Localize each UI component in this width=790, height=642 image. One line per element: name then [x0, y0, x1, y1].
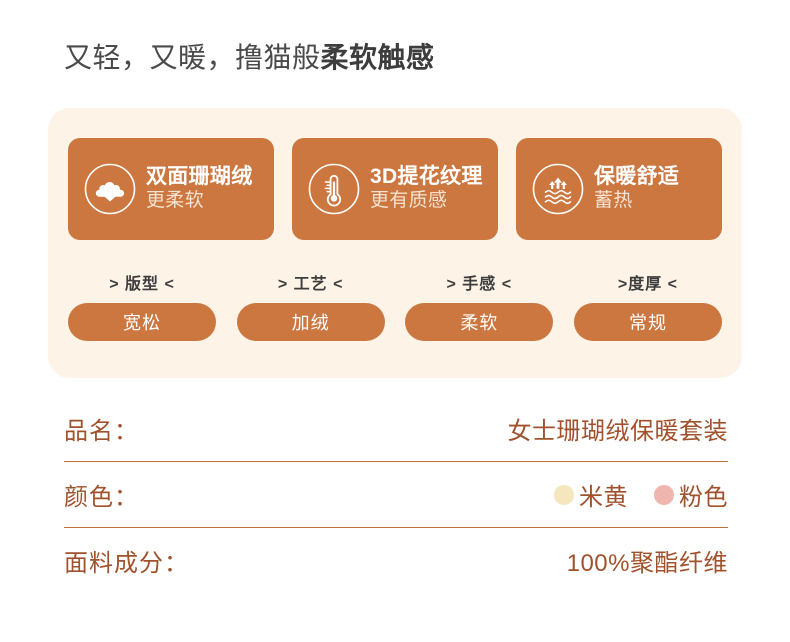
info-value-color: 米黄 粉色 — [554, 477, 728, 512]
spec-group-craft: > 工艺 < 加绒 — [231, 270, 391, 341]
feature-card-coral-fleece[interactable]: 双面珊瑚绒 更柔软 — [68, 138, 274, 240]
spec-group-fit: > 版型 < 宽松 — [62, 270, 222, 341]
info-row-color: 颜色： 米黄 粉色 — [64, 462, 728, 528]
feature-card-title: 保暖舒适 — [594, 165, 679, 189]
info-key: 面料成分： — [64, 543, 189, 578]
page-title-emphasis: 柔软触感 — [321, 42, 435, 73]
spec-tags-row: > 版型 < 宽松 > 工艺 < 加绒 > 手感 < 柔软 >度厚 < 常规 — [62, 270, 728, 341]
page-title-prefix: 又轻，又暖，撸猫般 — [64, 42, 321, 73]
info-key: 品名： — [64, 411, 139, 446]
color-option-beige[interactable]: 米黄 — [554, 477, 628, 512]
product-info-list: 品名： 女士珊瑚绒保暖套装 颜色： 米黄 粉色 面料成分： 100%聚酯纤维 — [64, 396, 728, 593]
info-value-fabric: 100%聚酯纤维 — [567, 543, 728, 578]
info-row-fabric: 面料成分： 100%聚酯纤维 — [64, 528, 728, 593]
feature-card-subtitle: 蓄热 — [594, 190, 679, 211]
spec-label: >度厚 < — [618, 270, 678, 294]
feature-card-subtitle: 更柔软 — [146, 190, 253, 211]
feature-card-text: 双面珊瑚绒 更柔软 — [146, 165, 253, 214]
cotton-boll-icon — [82, 161, 138, 217]
spec-pill-feel[interactable]: 柔软 — [405, 303, 553, 341]
feature-card-title: 双面珊瑚绒 — [146, 165, 253, 189]
feature-cards-row: 双面珊瑚绒 更柔软 — [68, 138, 722, 240]
feature-card-text: 保暖舒适 蓄热 — [594, 165, 679, 214]
spec-pill-craft[interactable]: 加绒 — [237, 303, 385, 341]
spec-group-feel: > 手感 < 柔软 — [399, 270, 559, 341]
spec-pill-fit[interactable]: 宽松 — [68, 303, 216, 341]
info-key: 颜色： — [64, 477, 139, 512]
heat-waves-icon — [530, 161, 586, 217]
spec-pill-thickness[interactable]: 常规 — [574, 303, 722, 341]
page-title: 又轻，又暖，撸猫般柔软触感 — [64, 36, 435, 80]
info-value-product-name: 女士珊瑚绒保暖套装 — [508, 411, 729, 446]
color-swatch-pink — [654, 485, 674, 505]
info-row-product-name: 品名： 女士珊瑚绒保暖套装 — [64, 396, 728, 462]
spec-label: > 手感 < — [447, 270, 513, 294]
color-option-label: 米黄 — [579, 477, 628, 512]
feature-panel: 双面珊瑚绒 更柔软 — [48, 108, 742, 378]
spec-group-thickness: >度厚 < 常规 — [568, 270, 728, 341]
spec-label: > 版型 < — [109, 270, 175, 294]
color-swatch-beige — [554, 485, 574, 505]
feature-card-warm-comfort[interactable]: 保暖舒适 蓄热 — [516, 138, 722, 240]
spec-label: > 工艺 < — [278, 270, 344, 294]
color-option-label: 粉色 — [679, 477, 728, 512]
feature-card-subtitle: 更有质感 — [370, 190, 483, 211]
feature-card-text: 3D提花纹理 更有质感 — [370, 165, 483, 214]
thermometer-icon — [306, 161, 362, 217]
feature-card-title: 3D提花纹理 — [370, 165, 483, 189]
color-option-pink[interactable]: 粉色 — [654, 477, 728, 512]
feature-card-jacquard-texture[interactable]: 3D提花纹理 更有质感 — [292, 138, 498, 240]
